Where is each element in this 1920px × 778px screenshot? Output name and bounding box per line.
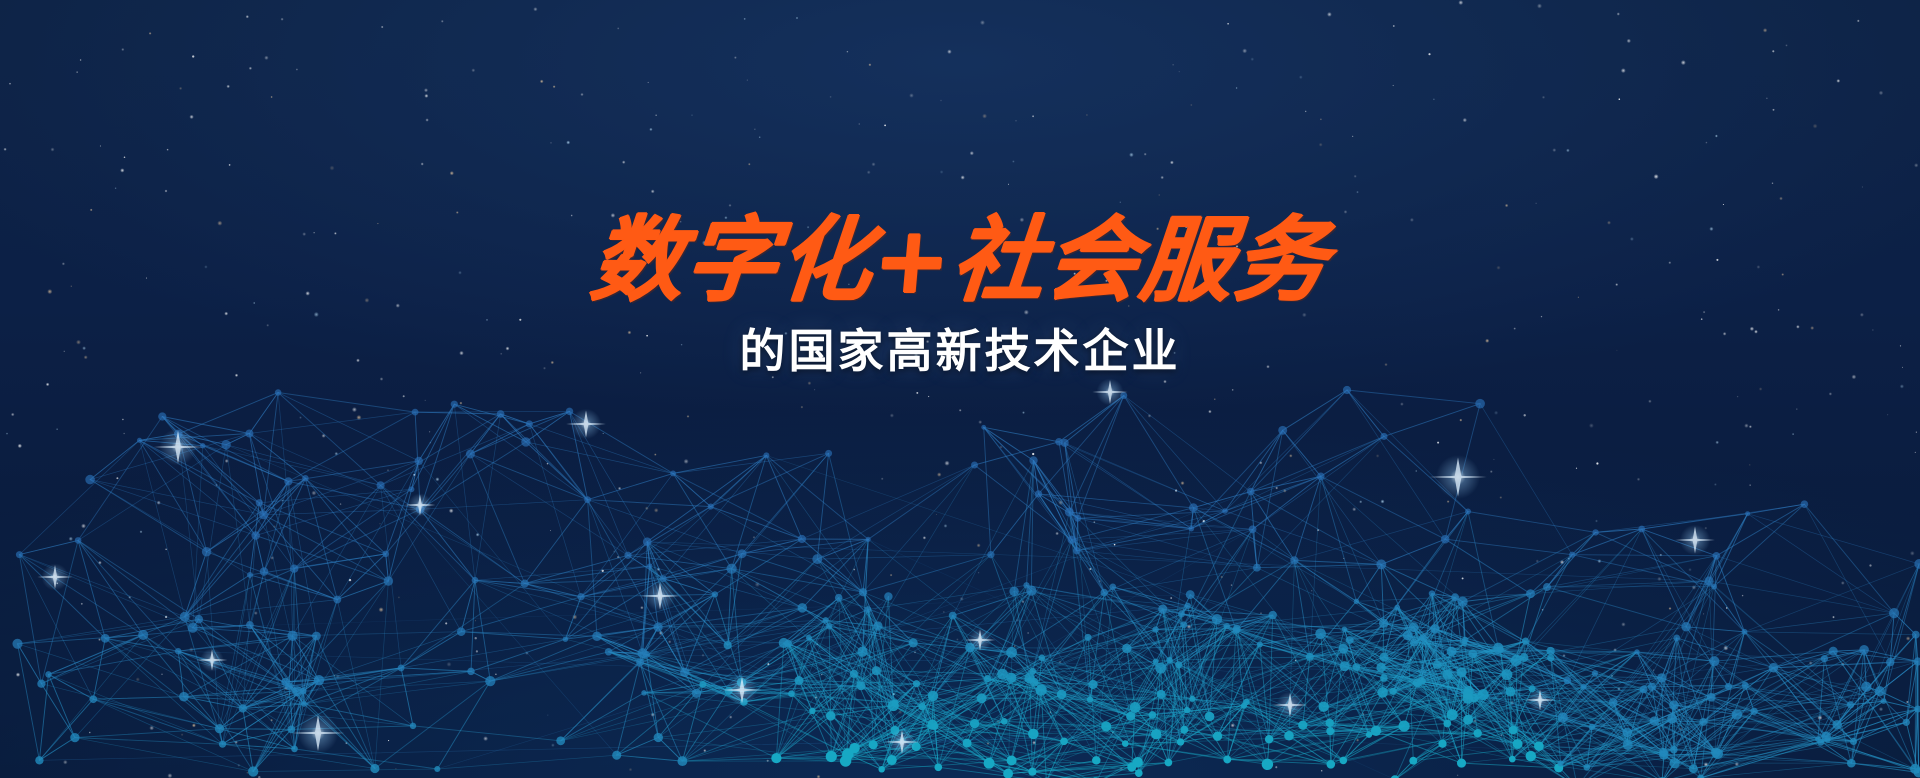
page-subtitle: 的国家高新技术企业 bbox=[0, 326, 1920, 377]
polygon-network-mesh bbox=[0, 0, 1920, 778]
banner-text-block: 数字化+社会服务 的国家高新技术企业 bbox=[0, 214, 1920, 376]
page-title: 数字化+社会服务 bbox=[0, 214, 1920, 308]
hero-banner: 数字化+社会服务 的国家高新技术企业 bbox=[0, 0, 1920, 778]
